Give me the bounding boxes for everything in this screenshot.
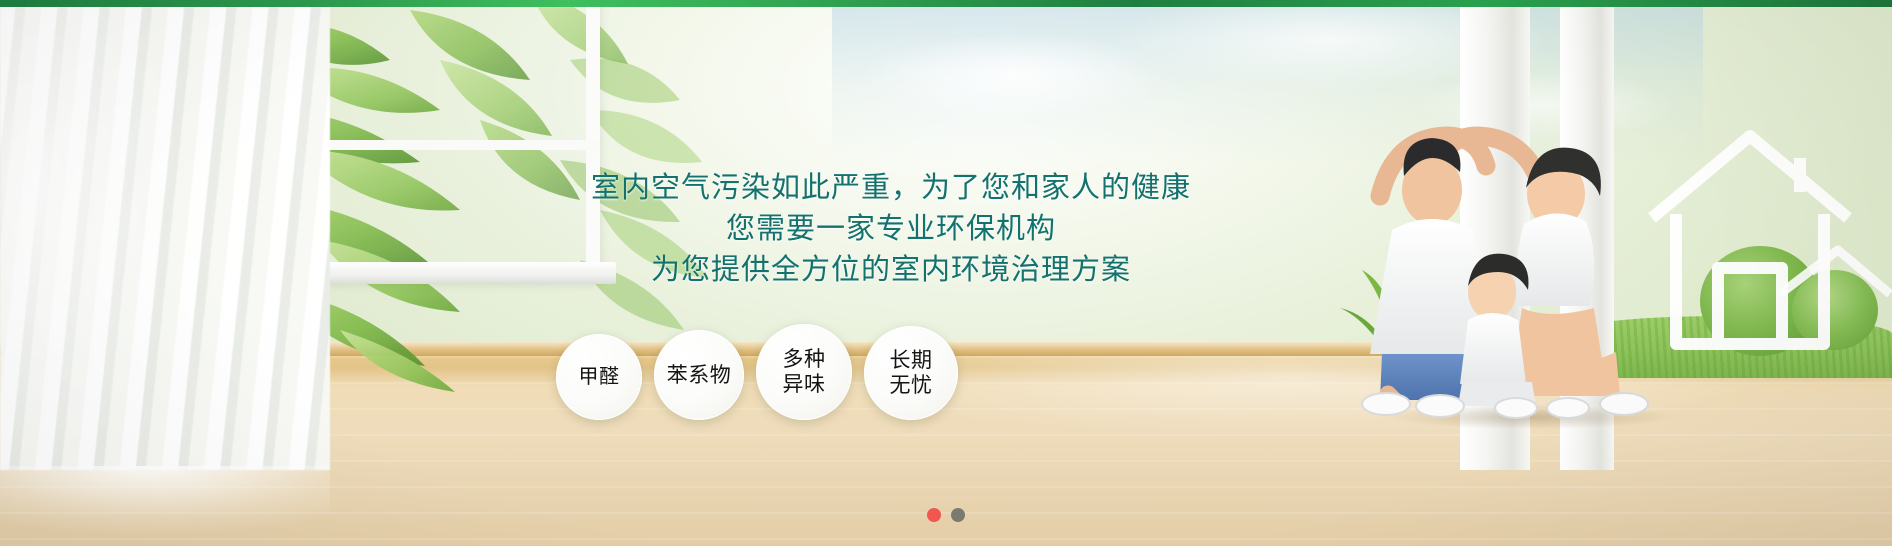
curtain-hem <box>0 466 330 546</box>
badge-long-term-line2: 无忧 <box>890 373 933 398</box>
badge-long-term-line1: 长期 <box>890 348 933 373</box>
badge-benzene-line1: 苯系物 <box>667 363 732 388</box>
window-sill <box>286 262 616 284</box>
curtain <box>0 0 330 470</box>
badge-formaldehyde-line1: 甲醛 <box>579 365 620 390</box>
badge-odors-line1: 多种 <box>783 347 826 372</box>
window-mullion <box>300 140 600 150</box>
carousel-dot-2[interactable] <box>951 508 965 522</box>
hero-banner: 室内空气污染如此严重，为了您和家人的健康 您需要一家专业环保机构 为您提供全方位… <box>0 0 1892 546</box>
badge-odors[interactable]: 多种 异味 <box>756 324 852 420</box>
badge-formaldehyde[interactable]: 甲醛 <box>556 334 642 420</box>
top-green-strip <box>0 0 1892 7</box>
badge-long-term[interactable]: 长期 无忧 <box>864 326 958 420</box>
badge-odors-line2: 异味 <box>783 372 826 397</box>
family-photo <box>1320 64 1740 424</box>
carousel-dot-1[interactable] <box>927 508 941 522</box>
feature-badges: 甲醛 苯系物 多种 异味 长期 无忧 <box>556 324 958 420</box>
badge-benzene[interactable]: 苯系物 <box>654 330 744 420</box>
carousel-dots <box>0 508 1892 522</box>
